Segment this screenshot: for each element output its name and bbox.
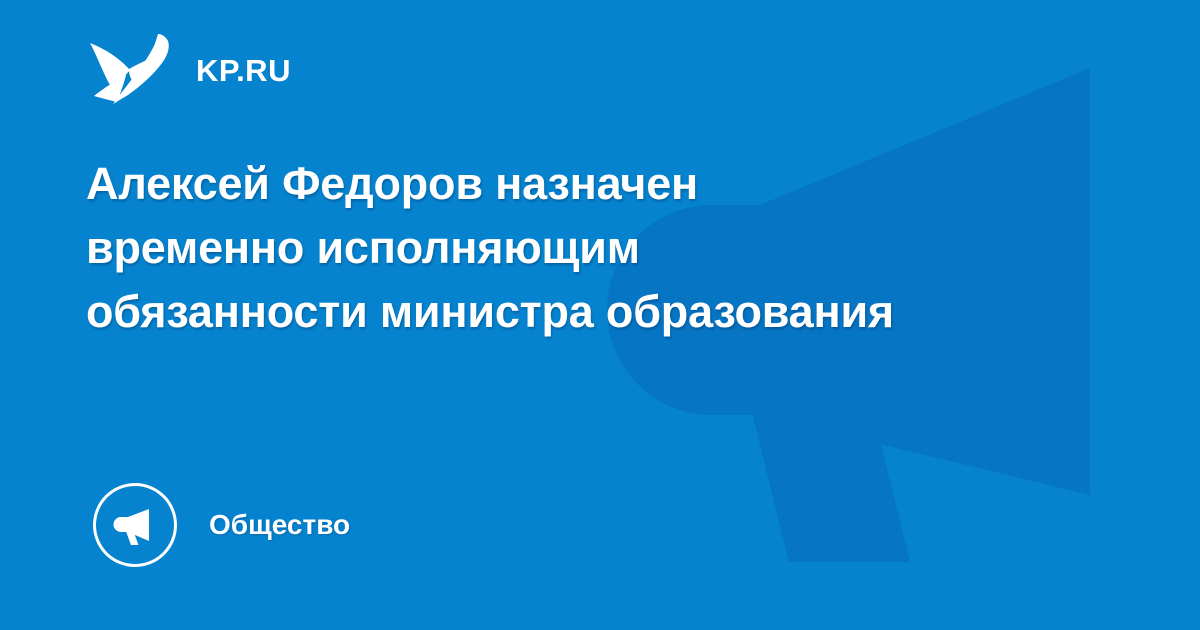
site-logo[interactable]: KP.RU (88, 32, 291, 108)
site-logo-text: KP.RU (196, 55, 291, 86)
category-tag[interactable]: Общество (93, 483, 350, 567)
megaphone-icon (111, 501, 159, 549)
swallow-bird-logo-icon (88, 32, 174, 108)
category-label: Общество (209, 511, 350, 539)
share-card: KP.RU Алексей Федоров назначен временно … (0, 0, 1200, 630)
category-badge (93, 483, 177, 567)
page-title: Алексей Федоров назначен временно исполн… (86, 152, 916, 344)
